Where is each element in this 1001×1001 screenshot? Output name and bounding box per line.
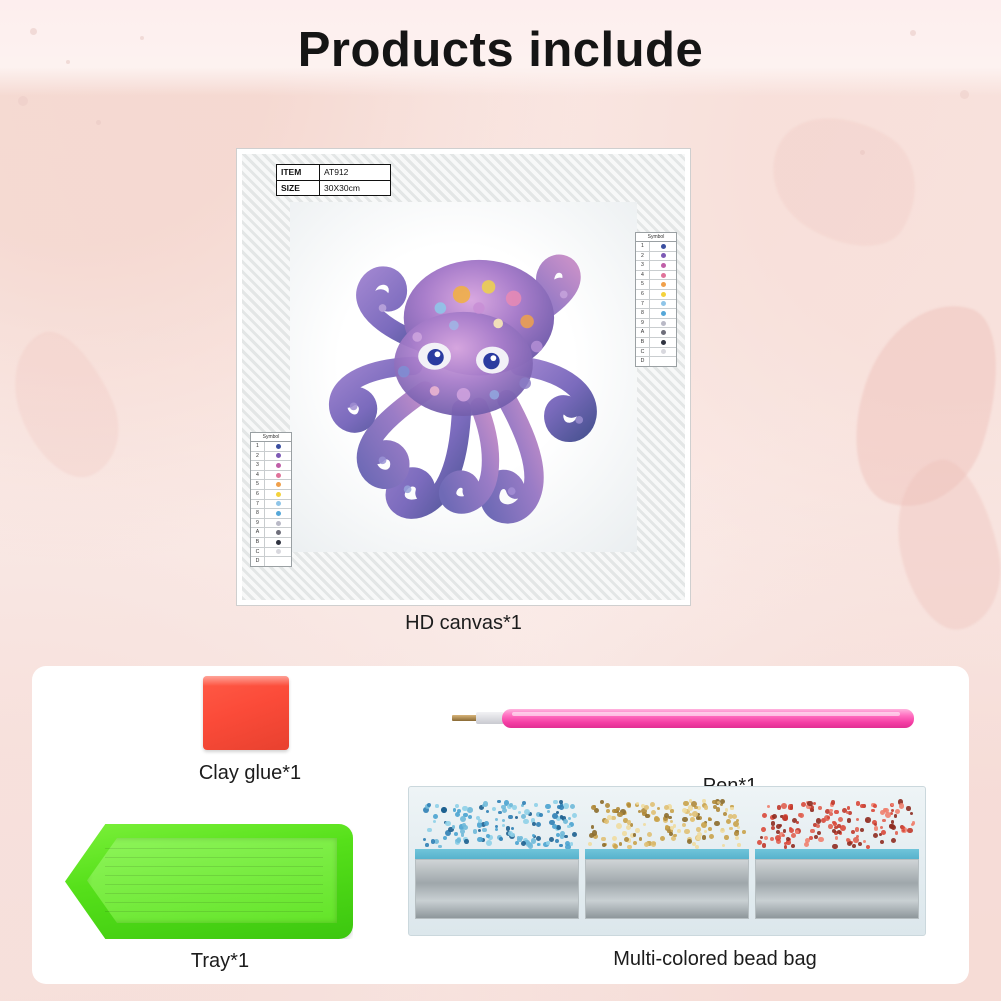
symbol-number: 7 bbox=[636, 300, 650, 309]
symbol-row: 4 bbox=[636, 271, 676, 281]
symbol-swatch bbox=[265, 521, 291, 526]
symbol-row: 8 bbox=[251, 509, 291, 519]
symbol-swatch bbox=[650, 244, 676, 249]
bead-foil-backing bbox=[755, 859, 919, 919]
symbol-legend-right: Symbol 123456789ABCD bbox=[635, 232, 677, 367]
symbol-row: B bbox=[636, 338, 676, 348]
symbol-number: A bbox=[636, 328, 650, 337]
symbol-swatch bbox=[265, 530, 291, 535]
symbol-number: 3 bbox=[636, 261, 650, 270]
symbol-swatch bbox=[650, 273, 676, 278]
symbol-number: 6 bbox=[251, 490, 265, 499]
symbol-row: 2 bbox=[636, 252, 676, 262]
symbol-row: A bbox=[636, 328, 676, 338]
symbol-number: 9 bbox=[251, 519, 265, 528]
symbol-number: B bbox=[251, 538, 265, 547]
symbol-number: 8 bbox=[251, 509, 265, 518]
bead-compartment bbox=[755, 793, 919, 929]
symbol-swatch bbox=[265, 444, 291, 449]
bead-compartment bbox=[585, 793, 749, 929]
symbol-swatch bbox=[650, 253, 676, 258]
symbol-number: 1 bbox=[636, 242, 650, 251]
symbol-row: 3 bbox=[251, 461, 291, 471]
symbol-swatch bbox=[650, 321, 676, 326]
symbol-legend-header: Symbol bbox=[251, 433, 291, 442]
symbol-swatch bbox=[265, 482, 291, 487]
symbol-number: 3 bbox=[251, 461, 265, 470]
symbol-number: C bbox=[636, 348, 650, 357]
symbol-swatch bbox=[265, 501, 291, 506]
symbol-row: 7 bbox=[636, 300, 676, 310]
hd-canvas-image: ITEMAT912 SIZE30X30cm Symbol 123456789AB… bbox=[236, 148, 691, 606]
symbol-swatch bbox=[650, 311, 676, 316]
symbol-row: 4 bbox=[251, 471, 291, 481]
bead-foil-backing bbox=[585, 859, 749, 919]
symbol-swatch bbox=[650, 263, 676, 268]
tray-image bbox=[65, 824, 353, 939]
symbol-number: 9 bbox=[636, 319, 650, 328]
pen-image bbox=[452, 705, 912, 731]
symbol-swatch bbox=[265, 549, 291, 554]
symbol-number: 2 bbox=[251, 452, 265, 461]
symbol-number: 8 bbox=[636, 309, 650, 318]
tray-grooves bbox=[105, 848, 323, 913]
symbol-swatch bbox=[650, 330, 676, 335]
size-value: 30X30cm bbox=[320, 181, 390, 196]
symbol-row: 1 bbox=[251, 442, 291, 452]
bead-compartment bbox=[415, 793, 579, 929]
symbol-swatch bbox=[265, 559, 291, 564]
symbol-number: C bbox=[251, 548, 265, 557]
symbol-row: 7 bbox=[251, 500, 291, 510]
symbol-swatch bbox=[265, 453, 291, 458]
pen-body bbox=[502, 709, 914, 728]
caption-clay-glue: Clay glue*1 bbox=[150, 762, 350, 785]
symbol-number: D bbox=[251, 557, 265, 566]
size-label: SIZE bbox=[277, 181, 320, 196]
symbol-swatch bbox=[265, 492, 291, 497]
symbol-row: 6 bbox=[251, 490, 291, 500]
symbol-swatch bbox=[650, 282, 676, 287]
symbol-number: 5 bbox=[251, 480, 265, 489]
symbol-row: 3 bbox=[636, 261, 676, 271]
symbol-number: 1 bbox=[251, 442, 265, 451]
bead-pile bbox=[415, 797, 579, 849]
symbol-row: 9 bbox=[636, 319, 676, 329]
pen-ferrule bbox=[476, 712, 504, 724]
page-title: Products include bbox=[0, 22, 1001, 78]
symbol-swatch bbox=[650, 292, 676, 297]
decor-speck bbox=[18, 96, 28, 106]
caption-tray: Tray*1 bbox=[130, 950, 310, 973]
symbol-number: 4 bbox=[636, 271, 650, 280]
symbol-row: D bbox=[636, 357, 676, 366]
symbol-number: 2 bbox=[636, 252, 650, 261]
item-label: ITEM bbox=[277, 165, 320, 181]
bead-pile bbox=[755, 797, 919, 849]
canvas-item-table: ITEMAT912 SIZE30X30cm bbox=[276, 164, 391, 196]
symbol-swatch bbox=[650, 340, 676, 345]
bead-foil-backing bbox=[415, 859, 579, 919]
symbol-row: C bbox=[636, 348, 676, 358]
symbol-number: 6 bbox=[636, 290, 650, 299]
symbol-number: B bbox=[636, 338, 650, 347]
clay-glue-image bbox=[203, 676, 289, 750]
caption-hd-canvas: HD canvas*1 bbox=[236, 612, 691, 635]
decor-speck bbox=[960, 90, 969, 99]
symbol-row: B bbox=[251, 538, 291, 548]
symbol-number: 7 bbox=[251, 500, 265, 509]
symbol-row: 1 bbox=[636, 242, 676, 252]
symbol-swatch bbox=[265, 511, 291, 516]
symbol-row: 5 bbox=[636, 280, 676, 290]
symbol-number: D bbox=[636, 357, 650, 366]
octopus-artwork bbox=[290, 202, 637, 549]
symbol-swatch bbox=[650, 301, 676, 306]
decor-speck bbox=[96, 120, 101, 125]
symbol-row: D bbox=[251, 557, 291, 566]
symbol-legend-header: Symbol bbox=[636, 233, 676, 242]
pen-tip bbox=[452, 715, 478, 721]
bead-pile bbox=[585, 797, 749, 849]
caption-bead-bag: Multi-colored bead bag bbox=[505, 948, 925, 971]
symbol-row: C bbox=[251, 548, 291, 558]
canvas-inner: ITEMAT912 SIZE30X30cm Symbol 123456789AB… bbox=[242, 154, 685, 600]
symbol-row: 2 bbox=[251, 452, 291, 462]
symbol-swatch bbox=[650, 349, 676, 354]
item-value: AT912 bbox=[320, 165, 390, 181]
symbol-row: A bbox=[251, 528, 291, 538]
symbol-row: 9 bbox=[251, 519, 291, 529]
bead-bag-image bbox=[408, 786, 926, 936]
symbol-row: 8 bbox=[636, 309, 676, 319]
symbol-row: 5 bbox=[251, 480, 291, 490]
symbol-row: 6 bbox=[636, 290, 676, 300]
symbol-swatch bbox=[265, 463, 291, 468]
symbol-number: A bbox=[251, 528, 265, 537]
symbol-swatch bbox=[650, 359, 676, 364]
symbol-legend-left: Symbol 123456789ABCD bbox=[250, 432, 292, 567]
symbol-number: 5 bbox=[636, 280, 650, 289]
symbol-swatch bbox=[265, 473, 291, 478]
symbol-number: 4 bbox=[251, 471, 265, 480]
symbol-swatch bbox=[265, 540, 291, 545]
